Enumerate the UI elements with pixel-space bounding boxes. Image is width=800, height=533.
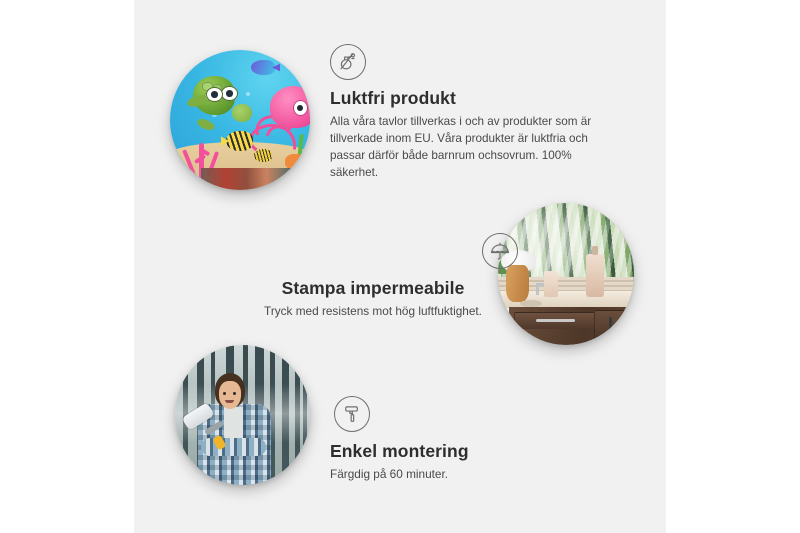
feature-waterproof-print: Stampa impermeabile Tryck med resistens … [208, 233, 538, 320]
feature-body: Tryck med resistens mot hög luftfuktighe… [208, 303, 538, 320]
no-scent-spray-bottle-icon [330, 44, 366, 80]
woman-with-paint-roller-forest-circle-photo [175, 345, 310, 485]
product-feature-infographic: Luktfri produkt Alla våra tavlor tillver… [0, 0, 800, 533]
small-fish-illustration [254, 149, 272, 162]
feature-easy-assembly: Enkel montering Färgdig på 60 minuter. [330, 396, 610, 483]
umbrella-icon [482, 233, 518, 269]
turtle-illustration [190, 72, 249, 125]
feature-body: Alla våra tavlor tillverkas i och av pro… [330, 113, 622, 181]
infographic-stage: Luktfri produkt Alla våra tavlor tillver… [134, 0, 666, 533]
octopus-illustration [251, 86, 310, 153]
feature-body: Färgdig på 60 minuter. [330, 466, 610, 483]
feature-title: Stampa impermeabile [208, 278, 538, 298]
underwater-cartoon-circle-photo [170, 50, 310, 190]
tumbler [544, 271, 558, 297]
feature-title: Luktfri produkt [330, 88, 630, 108]
yellow-fish-illustration [226, 131, 253, 151]
photo-strip-overlay [201, 168, 310, 190]
feature-title: Enkel montering [330, 441, 610, 461]
woman-figure [197, 373, 273, 485]
paint-roller-icon [334, 396, 370, 432]
blue-fish-illustration [251, 60, 275, 75]
soap-dispenser [586, 254, 604, 297]
feature-odour-free: Luktfri produkt Alla våra tavlor tillver… [330, 44, 630, 181]
